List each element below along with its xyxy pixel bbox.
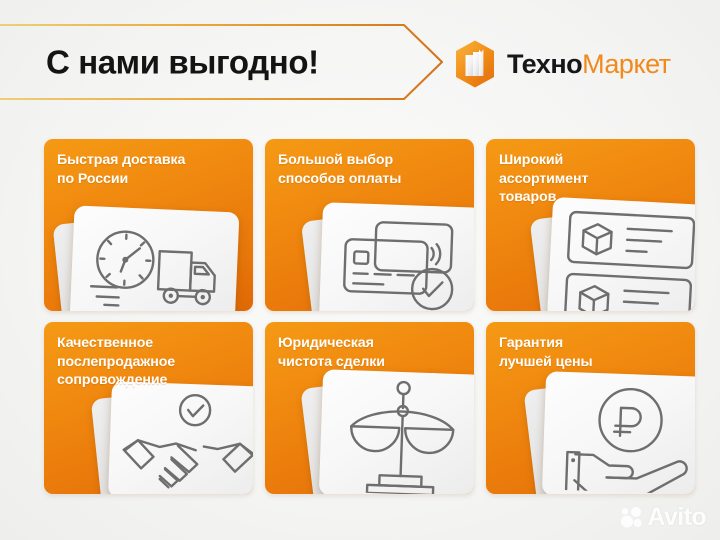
note-card-front: [108, 381, 253, 494]
benefit-card-payment-methods[interactable]: Большой выбор способов оплаты: [265, 139, 474, 311]
technomarket-hexagon-icon: [452, 39, 498, 89]
handshake-check-icon: [114, 387, 253, 494]
benefit-card-title: Широкий ассортимент товаров: [499, 151, 683, 207]
benefit-card-title: Быстрая доставка по России: [57, 151, 241, 188]
brand-name-secondary: Маркет: [582, 49, 670, 79]
note-card-front: [319, 369, 474, 494]
benefit-card-legal-purity[interactable]: Юридическая чистота сделки: [265, 322, 474, 494]
justice-scales-icon: [327, 376, 474, 494]
benefit-card-best-price-guarantee[interactable]: Гарантия лучшей цены: [486, 322, 695, 494]
benefits-grid: Быстрая доставка по России: [44, 139, 720, 496]
note-card-front: [319, 202, 474, 311]
clock-truck-icon: [78, 214, 231, 311]
brand-logo-text: ТехноМаркет: [507, 51, 671, 78]
benefit-card-wide-assortment[interactable]: Широкий ассортимент товаров: [486, 139, 695, 311]
benefit-card-title: Качественное послепродажное сопровождени…: [57, 334, 241, 390]
box-list-icon: [551, 203, 695, 311]
promo-banner-page: С нами выгодно!: [0, 0, 720, 540]
page-title: С нами выгодно!: [46, 46, 319, 79]
brand-logo[interactable]: ТехноМаркет: [452, 39, 684, 89]
benefit-card-title: Гарантия лучшей цены: [499, 334, 683, 371]
avito-watermark: Avito: [621, 505, 706, 530]
benefit-card-title: Юридическая чистота сделки: [278, 334, 462, 371]
credit-card-check-icon: [325, 210, 474, 311]
avito-watermark-text: Avito: [647, 505, 706, 530]
brand-name-primary: Техно: [507, 49, 582, 79]
avito-dots-icon: [621, 507, 643, 529]
hand-ruble-coin-icon: [550, 380, 695, 494]
note-card-front: [70, 205, 240, 311]
header-banner: С нами выгодно!: [0, 23, 446, 101]
benefit-card-after-sales-support[interactable]: Качественное послепродажное сопровождени…: [44, 322, 253, 494]
note-card-front: [542, 371, 695, 494]
benefit-card-title: Большой выбор способов оплаты: [278, 151, 462, 188]
benefit-card-fast-delivery[interactable]: Быстрая доставка по России: [44, 139, 253, 311]
note-card-front: [547, 197, 695, 311]
